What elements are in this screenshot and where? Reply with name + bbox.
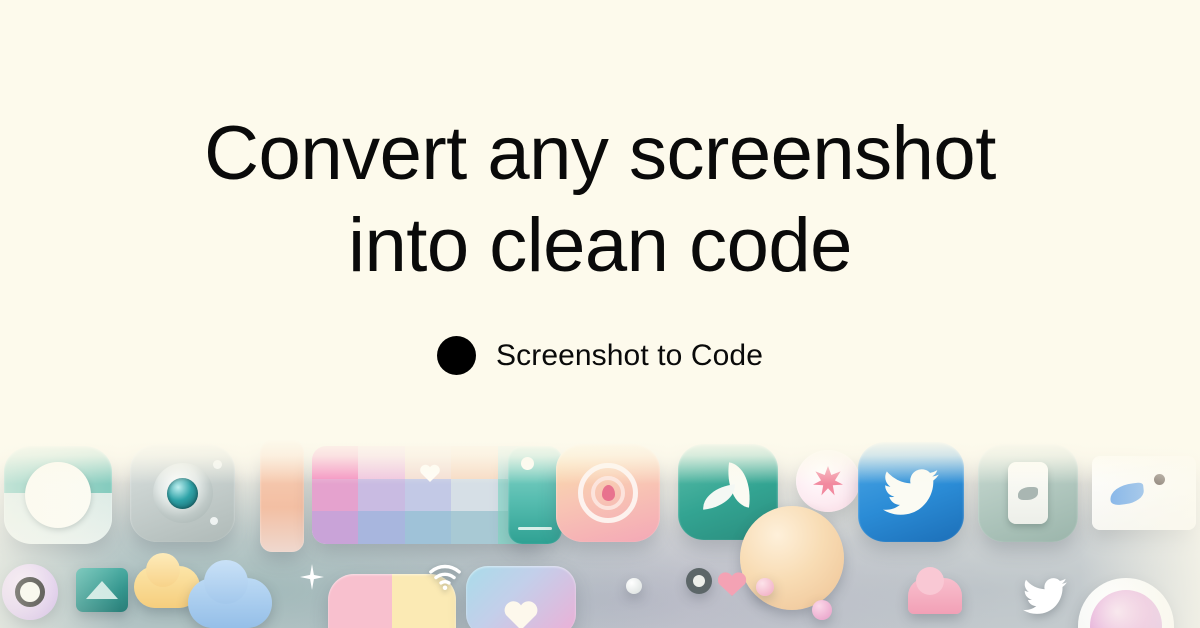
pink-bead-icon bbox=[756, 578, 774, 596]
location-pin-glyph bbox=[602, 485, 615, 501]
app-icon-collage-band bbox=[0, 438, 1200, 628]
peach-sphere-icon bbox=[740, 506, 844, 610]
camera-dot-2-glyph bbox=[210, 517, 218, 525]
dark-ring-core-glyph bbox=[693, 575, 705, 587]
white-twitter-bird-badge-icon bbox=[1018, 574, 1072, 618]
band-top-fade bbox=[0, 438, 1200, 484]
blue-pink-gradient-tile-icon bbox=[466, 566, 576, 628]
blue-cloud-icon bbox=[188, 578, 272, 628]
hero-section: Convert any screenshot into clean code S… bbox=[0, 0, 1200, 443]
headline-line-2: into clean code bbox=[204, 200, 996, 292]
pink-cloud-puff-glyph bbox=[916, 567, 944, 595]
tile-heart-glyph bbox=[504, 600, 538, 628]
pink-bead-2-icon bbox=[812, 600, 832, 620]
headline-line-1: Convert any screenshot bbox=[204, 108, 996, 200]
blue-cloud-puff-glyph bbox=[204, 560, 248, 604]
filled-circle-logo-icon bbox=[437, 336, 476, 375]
brand-row: Screenshot to Code bbox=[437, 336, 763, 375]
white-bead-icon bbox=[626, 578, 642, 594]
og-card: Convert any screenshot into clean code S… bbox=[0, 0, 1200, 628]
dark-ring-bead-icon bbox=[686, 568, 712, 594]
cloud-puff-glyph bbox=[146, 553, 180, 587]
device-bird-glyph bbox=[1018, 487, 1038, 500]
phone-line-glyph bbox=[518, 527, 552, 530]
brand-name: Screenshot to Code bbox=[496, 339, 763, 373]
page-title: Convert any screenshot into clean code bbox=[204, 108, 996, 292]
leaf-lower-glyph bbox=[701, 484, 737, 509]
wifi-icon bbox=[428, 564, 462, 590]
pink-cloud-icon bbox=[908, 578, 962, 614]
